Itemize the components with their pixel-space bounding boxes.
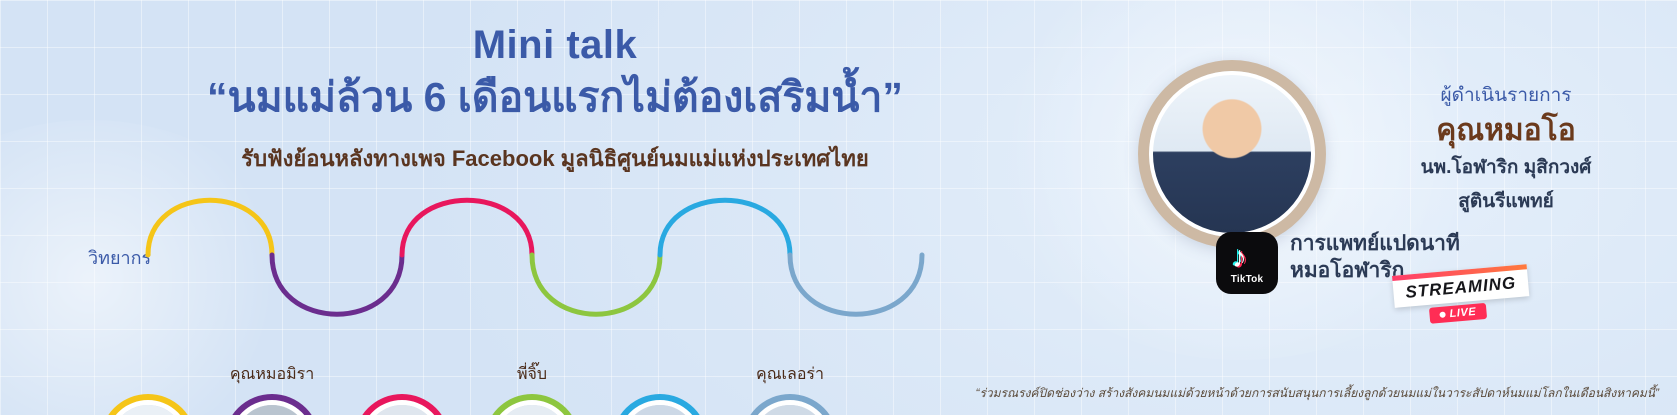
speaker-avatar (751, 403, 829, 415)
host-nickname: คุณหมอโอ (1341, 114, 1671, 147)
live-label: LIVE (1449, 306, 1477, 320)
speaker-avatar (493, 403, 571, 415)
tiktok-note-glyph: ♪ ♪ ♪ (1232, 243, 1262, 273)
speaker-avatar (621, 403, 699, 415)
host-full-name: นพ.โอฬาริก มุสิกวงศ์ (1341, 155, 1671, 181)
speaker-avatar (363, 403, 441, 415)
channel-block: ♪ ♪ ♪ TikTok การแพทย์แปดนาที หมอโอฬาริก … (1216, 230, 1676, 310)
live-dot-icon (1439, 311, 1446, 318)
page-title: Mini talk (0, 22, 1110, 68)
host-portrait-icon (1138, 60, 1326, 248)
speaker-timeline: คุณหมอวินคุณหมอมิราพี่วาสนาพี่จิ๊บคุณหมอ… (0, 178, 1120, 343)
host-specialty: สูตินรีแพทย์ (1341, 189, 1671, 215)
page-subtitle: รับฟังย้อนหลังทางเพจ Facebook มูลนิธิศูน… (0, 141, 1110, 176)
page-title-thai: “นมแม่ล้วน 6 เดือนแรกไม่ต้องเสริมน้ำ” (0, 70, 1110, 125)
channel-program-line1: การแพทย์แปดนาที (1290, 230, 1460, 257)
speaker-avatar (109, 403, 187, 415)
host-text-block: ผู้ดำเนินรายการ คุณหมอโอ นพ.โอฬาริก มุสิ… (1341, 80, 1671, 214)
headline-block: Mini talk “นมแม่ล้วน 6 เดือนแรกไม่ต้องเส… (0, 22, 1110, 176)
speaker-avatar (233, 403, 311, 415)
promo-banner: Mini talk “นมแม่ล้วน 6 เดือนแรกไม่ต้องเส… (0, 0, 1677, 415)
tiktok-wordmark: TikTok (1231, 274, 1264, 285)
footer-quote: “ร่วมรณรงค์ปิดช่องว่าง สร้างสังคมนมแม่ด้… (0, 384, 1659, 403)
host-role: ผู้ดำเนินรายการ (1341, 80, 1671, 110)
tiktok-icon[interactable]: ♪ ♪ ♪ TikTok (1216, 232, 1278, 294)
